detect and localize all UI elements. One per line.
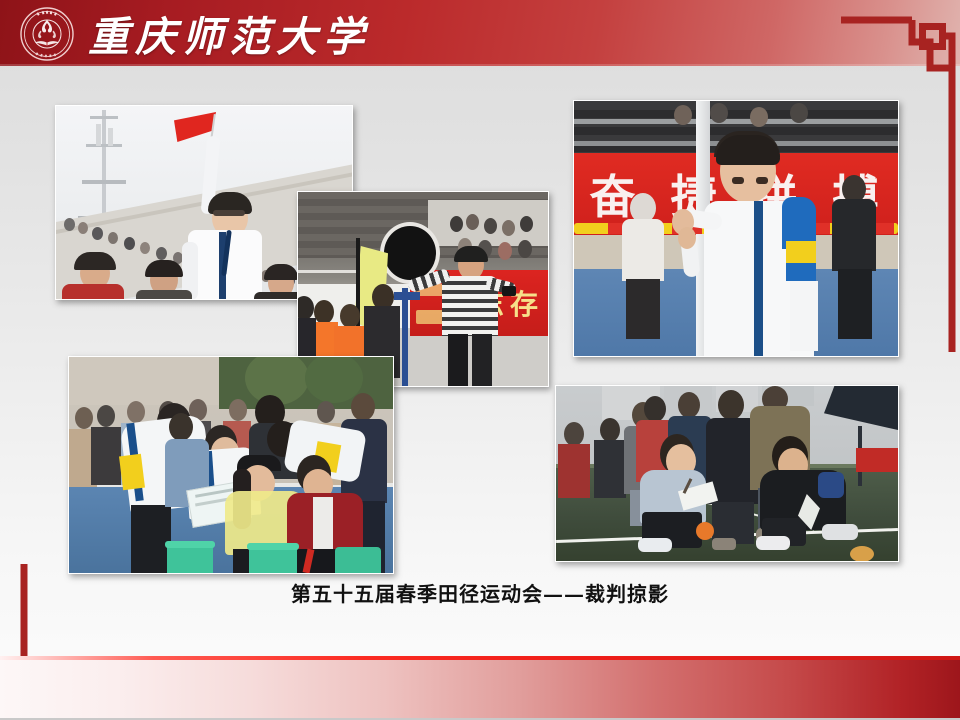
photo-judges-reviewing-results [68, 356, 394, 574]
university-name-title: 重庆师范大学 [88, 4, 370, 62]
university-seal-icon [19, 6, 75, 62]
photo-officials-measuring-throw-distance [555, 385, 899, 562]
slide-header: 重庆师范大学 [0, 0, 960, 66]
bottom-accent-band [0, 656, 960, 718]
photo-official-adjusting-high-jump-bar: 奋捷拼搏 [573, 100, 899, 357]
slide-canvas: 重庆师范大学 [0, 0, 960, 720]
